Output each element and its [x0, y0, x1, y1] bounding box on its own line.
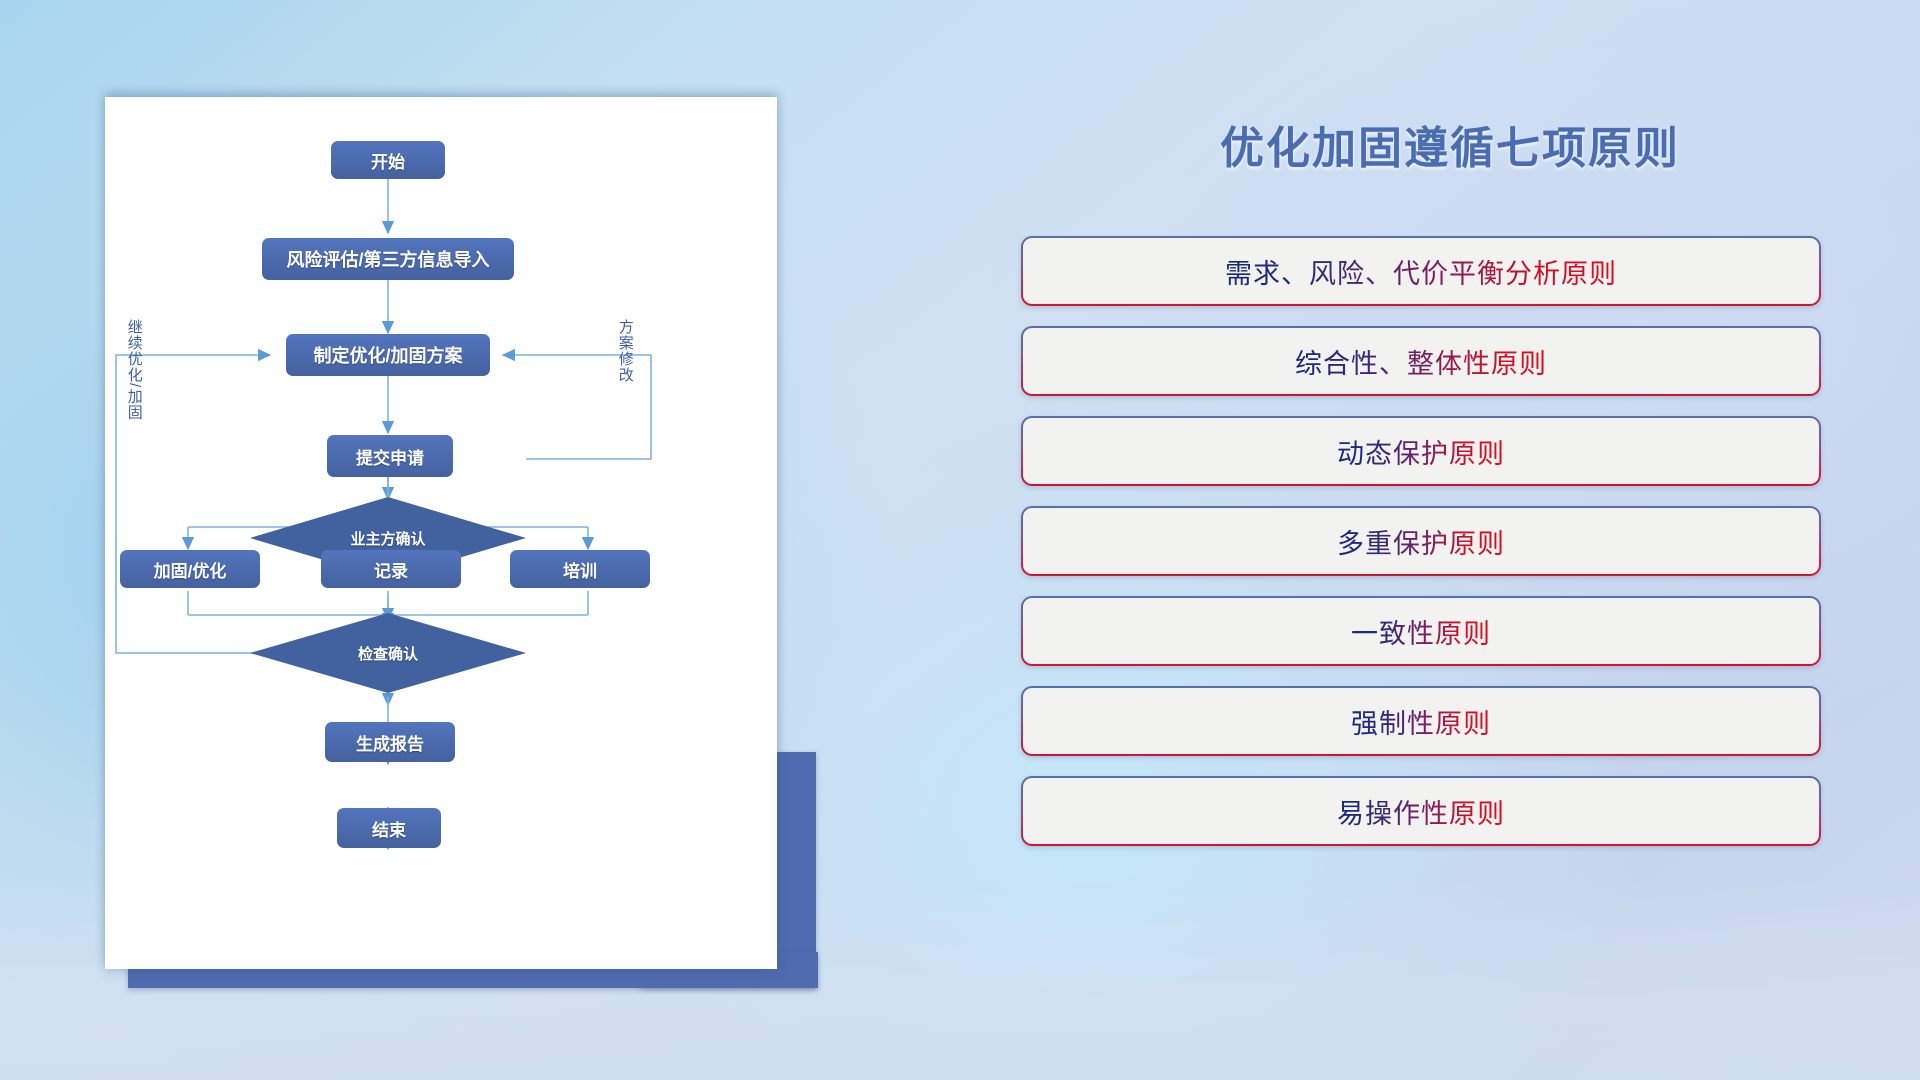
flow-node-check	[250, 613, 526, 693]
principles-panel: 优化加固遵循七项原则 需求、风险、代价平衡分析原则 综合性、整体性原则 动态保护…	[1020, 0, 1920, 1080]
principle-item-5[interactable]: 一致性原则	[1021, 596, 1821, 666]
principle-item-1-body: 需求、风险、代价平衡分析原则	[1023, 238, 1819, 304]
principle-item-7-label: 易操作性原则	[1337, 792, 1505, 831]
flow-node-record	[321, 550, 461, 588]
flow-node-start	[331, 141, 445, 179]
principle-item-4-label: 多重保护原则	[1337, 522, 1505, 561]
principle-item-1-label: 需求、风险、代价平衡分析原则	[1225, 252, 1617, 291]
principle-item-6-label: 强制性原则	[1351, 702, 1491, 741]
flow-edge-label-left-loop: 继续优化/加固	[126, 319, 142, 459]
flow-node-report	[325, 722, 455, 762]
principle-item-4[interactable]: 多重保护原则	[1021, 506, 1821, 576]
flow-edge-label-right-loop: 方案修改	[617, 319, 633, 429]
principles-list: 需求、风险、代价平衡分析原则 综合性、整体性原则 动态保护原则 多重保护原则 一…	[1021, 236, 1821, 846]
principle-item-1[interactable]: 需求、风险、代价平衡分析原则	[1021, 236, 1821, 306]
principle-item-7-body: 易操作性原则	[1023, 778, 1819, 844]
principle-item-5-label: 一致性原则	[1351, 612, 1491, 651]
principle-item-7[interactable]: 易操作性原则	[1021, 776, 1821, 846]
flow-node-risk	[262, 238, 514, 280]
principle-item-3[interactable]: 动态保护原则	[1021, 416, 1821, 486]
flow-node-end	[337, 808, 441, 848]
flow-node-reinforce	[120, 550, 260, 588]
principle-item-2-label: 综合性、整体性原则	[1295, 342, 1547, 381]
flowchart-diagram	[105, 97, 777, 969]
principle-item-2-body: 综合性、整体性原则	[1023, 328, 1819, 394]
principle-item-5-body: 一致性原则	[1023, 598, 1819, 664]
principle-item-3-body: 动态保护原则	[1023, 418, 1819, 484]
flowchart-card: 开始 风险评估/第三方信息导入 制定优化/加固方案 提交申请 业主方确认 加固/…	[105, 97, 777, 969]
principle-item-6[interactable]: 强制性原则	[1021, 686, 1821, 756]
principle-item-2[interactable]: 综合性、整体性原则	[1021, 326, 1821, 396]
principle-item-3-label: 动态保护原则	[1337, 432, 1505, 471]
page-title: 优化加固遵循七项原则	[1020, 112, 1880, 176]
flow-node-submit	[327, 435, 453, 477]
principle-item-4-body: 多重保护原则	[1023, 508, 1819, 574]
flow-node-plan	[286, 334, 490, 376]
principle-item-6-body: 强制性原则	[1023, 688, 1819, 754]
flow-node-training	[510, 550, 650, 588]
